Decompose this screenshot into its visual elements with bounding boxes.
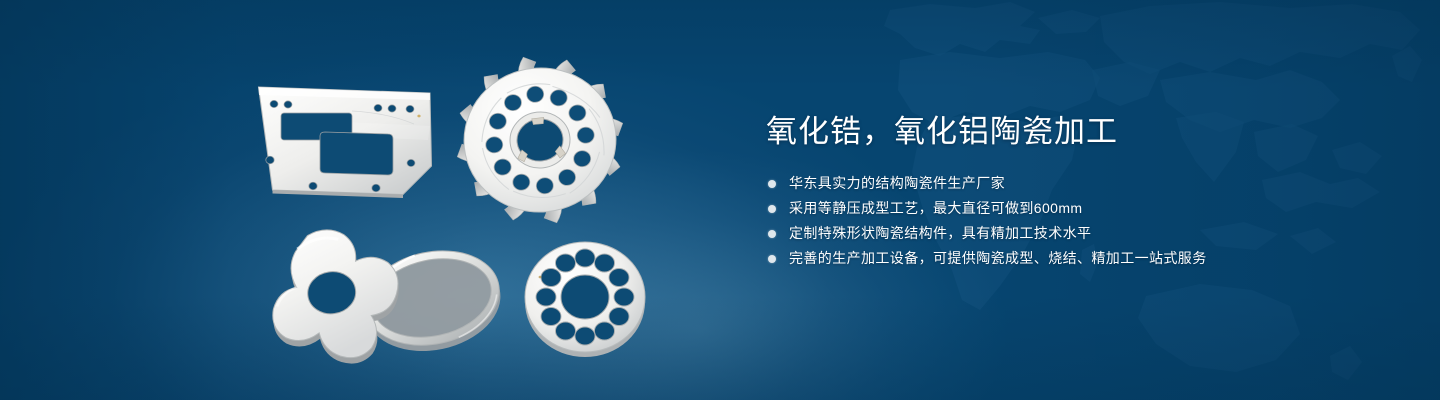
hero-banner: 氧化锆，氧化铝陶瓷加工 华东具实力的结构陶瓷件生产厂家 采用等静压成型工艺，最大… bbox=[0, 0, 1440, 400]
feature-text: 采用等静压成型工艺，最大直径可做到600mm bbox=[789, 199, 1082, 218]
feature-text: 华东具实力的结构陶瓷件生产厂家 bbox=[789, 174, 1005, 193]
list-item: 华东具实力的结构陶瓷件生产厂家 bbox=[768, 174, 1366, 193]
list-item: 完善的生产加工设备，可提供陶瓷成型、烧结、精加工一站式服务 bbox=[768, 249, 1366, 268]
feature-list: 华东具实力的结构陶瓷件生产厂家 采用等静压成型工艺，最大直径可做到600mm 定… bbox=[768, 174, 1366, 268]
bullet-dot-icon bbox=[768, 255, 776, 263]
page-title: 氧化锆，氧化铝陶瓷加工 bbox=[766, 112, 1366, 152]
bullet-dot-icon bbox=[768, 230, 776, 238]
bullet-dot-icon bbox=[768, 180, 776, 188]
list-item: 定制特殊形状陶瓷结构件，具有精加工技术水平 bbox=[768, 224, 1366, 243]
bullet-dot-icon bbox=[768, 205, 776, 213]
ceramic-plate-with-cutouts bbox=[259, 87, 432, 198]
ceramic-impeller-disc bbox=[448, 48, 633, 233]
feature-text: 完善的生产加工设备，可提供陶瓷成型、烧结、精加工一站式服务 bbox=[789, 249, 1207, 268]
banner-text-block: 氧化锆，氧化铝陶瓷加工 华东具实力的结构陶瓷件生产厂家 采用等静压成型工艺，最大… bbox=[766, 112, 1366, 274]
ceramic-perforated-disc bbox=[525, 242, 645, 357]
list-item: 采用等静压成型工艺，最大直径可做到600mm bbox=[768, 199, 1366, 218]
ceramic-cross-lobe-plate bbox=[262, 221, 409, 374]
feature-text: 定制特殊形状陶瓷结构件，具有精加工技术水平 bbox=[789, 224, 1091, 243]
